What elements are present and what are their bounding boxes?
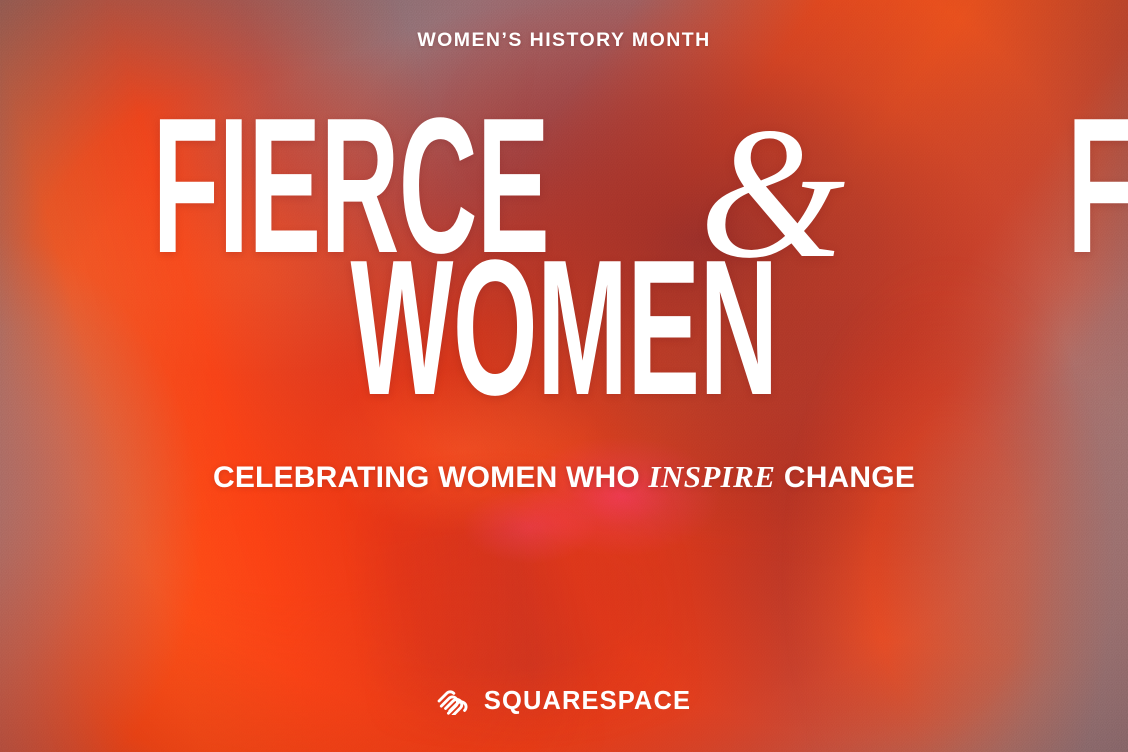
page-title: FIERCE & FEARLESS WOMEN — [0, 104, 1128, 410]
poster-content: WOMEN’S HISTORY MONTH FIERCE & FEARLESS … — [0, 0, 1128, 752]
squarespace-logo-mark — [437, 689, 471, 715]
subtitle: CELEBRATING WOMEN WHO INSPIRE CHANGE — [213, 461, 915, 493]
subtitle-before: CELEBRATING WOMEN WHO — [213, 461, 648, 494]
squarespace-wordmark: SQUARESPACE — [484, 689, 691, 715]
squarespace-logo[interactable]: SQUARESPACE — [437, 689, 691, 715]
kicker-eyebrow: WOMEN’S HISTORY MONTH — [417, 31, 710, 51]
headline-word-women: WOMEN — [350, 246, 777, 409]
subtitle-after: CHANGE — [775, 461, 915, 494]
subtitle-emphasis: INSPIRE — [648, 459, 775, 494]
womens-history-month-poster: WOMEN’S HISTORY MONTH FIERCE & FEARLESS … — [0, 0, 1128, 752]
headline-word-fearless: FEARLESS — [1068, 104, 1128, 267]
